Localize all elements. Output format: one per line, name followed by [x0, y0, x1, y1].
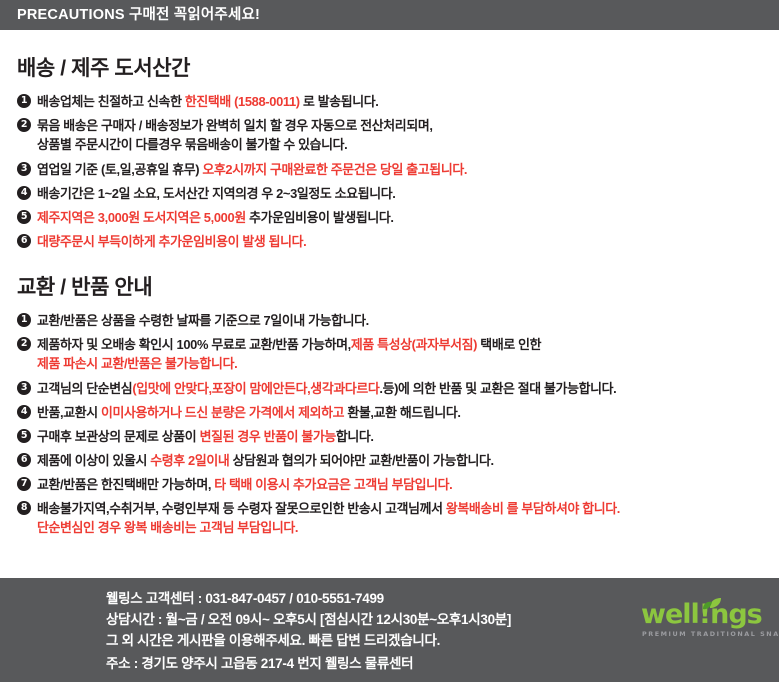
exchange-item-line: 단순변심인 경우 왕복 배송비는 고객님 부담입니다.: [37, 519, 779, 536]
footer-line: 그 외 시간은 게시판을 이용해주세요. 빠른 답변 드리겠습니다.: [106, 630, 626, 651]
shipping-item: 3엽업일 기준 (토,일,공휴일 휴무) 오후2시까지 구매완료한 주문건은 당…: [17, 161, 779, 178]
exchange-item-line: 교환/반품은 상품을 수령한 날짜를 기준으로 7일이내 가능합니다.: [37, 312, 779, 329]
exchange-item-line: 교환/반품은 한진택배만 가능하며, 타 택배 이용시 추가요금은 고객님 부담…: [37, 476, 779, 493]
page-title: PRECAUTIONS 구매전 꼭읽어주세요!: [17, 0, 260, 30]
shipping-item-line: 엽업일 기준 (토,일,공휴일 휴무) 오후2시까지 구매완료한 주문건은 당일…: [37, 161, 779, 178]
list-number-badge: 6: [17, 234, 31, 248]
exchange-item: 8배송불가지역,수취거부, 수령인부재 등 수령자 잘못으로인한 반송시 고객님…: [17, 500, 779, 536]
exchange-heading: 교환 / 반품 안내: [0, 250, 779, 301]
text-segment: 수령후 2일이내: [150, 453, 229, 468]
list-number-badge: 3: [17, 381, 31, 395]
exchange-item: 4반품,교환시 이미사용하거나 드신 분량은 가격에서 제외하고 환불,교환 해…: [17, 404, 779, 421]
shipping-item-line: 대량주문시 부득이하게 추가운임비용이 발생 됩니다.: [37, 233, 779, 250]
list-number-badge: 4: [17, 186, 31, 200]
list-number-badge: 6: [17, 453, 31, 467]
text-segment: 상담원과 협의가 되어야만 교환/반품이 가능합니다.: [229, 453, 493, 468]
text-segment: 제품하자 및 오배송 확인시 100% 무료로 교환/반품 가능하며,: [37, 337, 351, 352]
logo-word-before: well: [641, 599, 699, 630]
text-segment: 제품에 이상이 있울시: [37, 453, 150, 468]
shipping-item: 1배송업체는 친절하고 신속한 한진택배 (1588-0011) 로 발송됩니다…: [17, 93, 779, 110]
text-segment: 묶음 배송은 구매자 / 배송정보가 완벽히 일치 할 경우 자동으로 전산처리…: [37, 118, 433, 133]
shipping-item: 2묶음 배송은 구매자 / 배송정보가 완벽히 일치 할 경우 자동으로 전산처…: [17, 117, 779, 153]
footer-contact-block: 웰링스 고객센터 : 031-847-0457 / 010-5551-7499상…: [106, 588, 626, 674]
shipping-item: 6대량주문시 부득이하게 추가운임비용이 발생 됩니다.: [17, 233, 779, 250]
text-segment: 구매후 보관상의 문제로 상품이: [37, 429, 200, 444]
text-segment: 한진택배 (1588-0011): [185, 94, 300, 109]
text-segment: 배송업체는 친절하고 신속한: [37, 94, 185, 109]
text-segment: 반품,교환시: [37, 405, 101, 420]
shipping-item: 5제주지역은 3,000원 도서지역은 5,000원 추가운임비용이 발생됩니다…: [17, 209, 779, 226]
header-bar: PRECAUTIONS 구매전 꼭읽어주세요!: [0, 0, 779, 30]
text-segment: 제품 특성상(과자부서짐): [351, 337, 477, 352]
text-segment: 고객님의 단순변심: [37, 381, 132, 396]
exchange-item-line: 반품,교환시 이미사용하거나 드신 분량은 가격에서 제외하고 환불,교환 해드…: [37, 404, 779, 421]
list-number-badge: 5: [17, 210, 31, 224]
shipping-item-list: 1배송업체는 친절하고 신속한 한진택배 (1588-0011) 로 발송됩니다…: [0, 82, 779, 250]
footer-line: 상담시간 : 월~금 / 오전 09시~ 오후5시 [점심시간 12시30분~오…: [106, 609, 626, 630]
text-segment: 환불,교환 해드립니다.: [344, 405, 461, 420]
text-segment: 제품 파손시 교환/반품은 불가능합니다.: [37, 356, 237, 371]
text-segment: .등)에 의한 반품 및 교환은 절대 불가능합니다.: [379, 381, 616, 396]
text-segment: 상품별 주문시간이 다를경우 묶음배송이 불가할 수 있습니다.: [37, 137, 347, 152]
exchange-item-line: 제품 파손시 교환/반품은 불가능합니다.: [37, 355, 779, 372]
shipping-item-line: 묶음 배송은 구매자 / 배송정보가 완벽히 일치 할 경우 자동으로 전산처리…: [37, 117, 779, 134]
list-number-badge: 4: [17, 405, 31, 419]
shipping-item-line: 배송기간은 1~2일 소요, 도서산간 지역의경 우 2~3일정도 소요됩니다.: [37, 185, 779, 202]
text-segment: 이미사용하거나 드신 분량은 가격에서 제외하고: [101, 405, 344, 420]
footer-line: 웰링스 고객센터 : 031-847-0457 / 010-5551-7499: [106, 588, 626, 609]
exchange-item: 3고객님의 단순변심(입맛에 안맞다,포장이 맘에안든다,생각과다르다.등)에 …: [17, 380, 779, 397]
exchange-item-line: 고객님의 단순변심(입맛에 안맞다,포장이 맘에안든다,생각과다르다.등)에 의…: [37, 380, 779, 397]
text-segment: (입맛에 안맞다,포장이 맘에안든다,생각과다르다: [132, 381, 379, 396]
content-area: 배송 / 제주 도서산간 1배송업체는 친절하고 신속한 한진택배 (1588-…: [0, 33, 779, 578]
text-segment: 타 택배 이용시 추가요금은 고객님 부담입니다.: [214, 477, 452, 492]
text-segment: 교환/반품은 한진택배만 가능하며,: [37, 477, 214, 492]
exchange-item: 7교환/반품은 한진택배만 가능하며, 타 택배 이용시 추가요금은 고객님 부…: [17, 476, 779, 493]
shipping-item-line: 제주지역은 3,000원 도서지역은 5,000원 추가운임비용이 발생됩니다.: [37, 209, 779, 226]
exchange-item: 6제품에 이상이 있울시 수령후 2일이내 상담원과 협의가 되어야만 교환/반…: [17, 452, 779, 469]
exchange-item: 2제품하자 및 오배송 확인시 100% 무료로 교환/반품 가능하며,제품 특…: [17, 336, 779, 372]
text-segment: 교환/반품은 상품을 수령한 날짜를 기준으로 7일이내 가능합니다.: [37, 313, 369, 328]
text-segment: 제주지역은 3,000원 도서지역은 5,000원: [37, 210, 249, 225]
text-segment: 단순변심인 경우 왕복 배송비는 고객님 부담입니다.: [37, 520, 298, 535]
exchange-item-list: 1교환/반품은 상품을 수령한 날짜를 기준으로 7일이내 가능합니다.2제품하…: [0, 301, 779, 536]
text-segment: 배송불가지역,수취거부, 수령인부재 등 수령자 잘못으로인한 반송시 고객님께…: [37, 501, 446, 516]
shipping-item-line: 상품별 주문시간이 다를경우 묶음배송이 불가할 수 있습니다.: [37, 136, 779, 153]
shipping-section: 배송 / 제주 도서산간 1배송업체는 친절하고 신속한 한진택배 (1588-…: [0, 33, 779, 250]
text-segment: 추가운임비용이 발생됩니다.: [249, 210, 394, 225]
list-number-badge: 7: [17, 477, 31, 491]
text-segment: 왕복배송비 를 부담하셔야 합니다.: [446, 501, 620, 516]
list-number-badge: 3: [17, 162, 31, 176]
text-segment: 오후2시까지 구매완료한 주문건은 당일 출고됩니다.: [202, 162, 467, 177]
exchange-item-line: 제품하자 및 오배송 확인시 100% 무료로 교환/반품 가능하며,제품 특성…: [37, 336, 779, 353]
list-number-badge: 2: [17, 118, 31, 132]
exchange-item-line: 구매후 보관상의 문제로 상품이 변질된 경우 반품이 불가능합니다.: [37, 428, 779, 445]
shipping-heading: 배송 / 제주 도서산간: [0, 33, 779, 82]
list-number-badge: 5: [17, 429, 31, 443]
list-number-badge: 1: [17, 313, 31, 327]
footer-bar: 웰링스 고객센터 : 031-847-0457 / 010-5551-7499상…: [0, 578, 779, 682]
wellings-logo: well!ngs PREMIUM TRADITIONAL SNACK: [641, 600, 763, 646]
list-number-badge: 2: [17, 337, 31, 351]
text-segment: 엽업일 기준 (토,일,공휴일 휴무): [37, 162, 202, 177]
exchange-item: 1교환/반품은 상품을 수령한 날짜를 기준으로 7일이내 가능합니다.: [17, 312, 779, 329]
exchange-item: 5구매후 보관상의 문제로 상품이 변질된 경우 반품이 불가능합니다.: [17, 428, 779, 445]
shipping-item-line: 배송업체는 친절하고 신속한 한진택배 (1588-0011) 로 발송됩니다.: [37, 93, 779, 110]
text-segment: 합니다.: [336, 429, 374, 444]
shipping-item: 4배송기간은 1~2일 소요, 도서산간 지역의경 우 2~3일정도 소요됩니다…: [17, 185, 779, 202]
text-segment: 변질된 경우 반품이 불가능: [200, 429, 336, 444]
leaf-icon: [699, 597, 725, 611]
exchange-item-line: 배송불가지역,수취거부, 수령인부재 등 수령자 잘못으로인한 반송시 고객님께…: [37, 500, 779, 517]
footer-line: 주소 : 경기도 양주시 고읍동 217-4 번지 웰링스 물류센터: [106, 653, 626, 674]
logo-tagline: PREMIUM TRADITIONAL SNACK: [642, 630, 779, 638]
list-number-badge: 8: [17, 501, 31, 515]
list-number-badge: 1: [17, 94, 31, 108]
text-segment: 택배로 인한: [477, 337, 541, 352]
text-segment: 대량주문시 부득이하게 추가운임비용이 발생 됩니다.: [37, 234, 306, 249]
precautions-page: PRECAUTIONS 구매전 꼭읽어주세요! 배송 / 제주 도서산간 1배송…: [0, 0, 779, 682]
exchange-section: 교환 / 반품 안내 1교환/반품은 상품을 수령한 날짜를 기준으로 7일이내…: [0, 250, 779, 536]
text-segment: 배송기간은 1~2일 소요, 도서산간 지역의경 우 2~3일정도 소요됩니다.: [37, 186, 395, 201]
exchange-item-line: 제품에 이상이 있울시 수령후 2일이내 상담원과 협의가 되어야만 교환/반품…: [37, 452, 779, 469]
text-segment: 로 발송됩니다.: [300, 94, 379, 109]
